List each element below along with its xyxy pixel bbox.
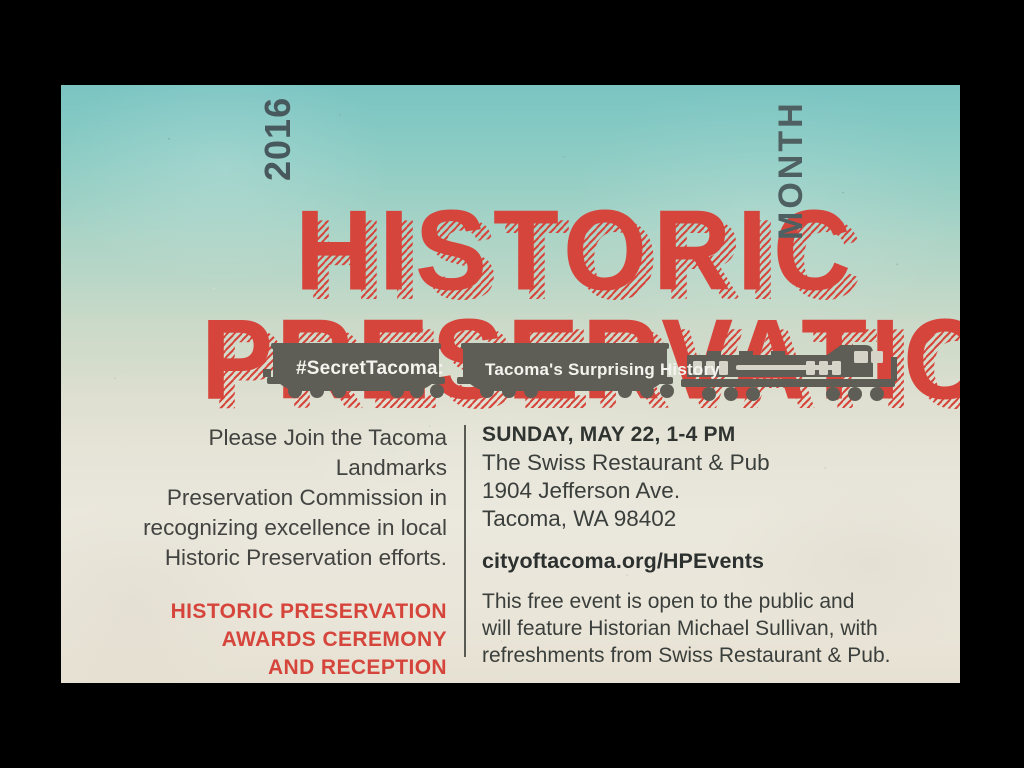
venue-name: The Swiss Restaurant & Pub xyxy=(482,449,912,477)
event-datetime: SUNDAY, MAY 22, 1-4 PM xyxy=(482,423,912,447)
column-divider xyxy=(464,425,466,657)
train-car-label-secret-tacoma: #SecretTacoma: xyxy=(296,358,444,380)
invitation-line-1: Please Join the Tacoma Landmarks xyxy=(117,423,447,483)
event-url-link[interactable]: cityoftacoma.org/HPEvents xyxy=(482,549,912,574)
event-poster: 2016 HISTORIC HISTORIC PRESERVATION PRES… xyxy=(61,85,960,683)
poster-frame: 2016 HISTORIC HISTORIC PRESERVATION PRES… xyxy=(0,0,1024,768)
awards-line-1: HISTORIC PRESERVATION xyxy=(117,598,447,626)
venue-address-block: The Swiss Restaurant & Pub 1904 Jefferso… xyxy=(482,449,912,533)
awards-line-2: AWARDS CEREMONY xyxy=(117,626,447,654)
event-note-line-1: This free event is open to the public an… xyxy=(482,588,912,615)
awards-heading-block: HISTORIC PRESERVATION AWARDS CEREMONY AN… xyxy=(117,598,447,682)
awards-line-3: AND RECEPTION xyxy=(117,654,447,682)
event-note-block: This free event is open to the public an… xyxy=(482,588,912,669)
right-details-column: SUNDAY, MAY 22, 1-4 PM The Swiss Restaur… xyxy=(482,423,912,669)
event-note-line-3: refreshments from Swiss Restaurant & Pub… xyxy=(482,642,912,669)
invitation-line-3: recognizing excellence in local xyxy=(117,513,447,543)
train-illustration: #SecretTacoma: Tacoma's Surprising Histo… xyxy=(201,343,921,405)
venue-street: 1904 Jefferson Ave. xyxy=(482,477,912,505)
invitation-line-2: Preservation Commission in xyxy=(117,483,447,513)
invitation-block: Please Join the Tacoma Landmarks Preserv… xyxy=(117,423,447,573)
invitation-line-4: Historic Preservation efforts. xyxy=(117,543,447,573)
venue-city-state-zip: Tacoma, WA 98402 xyxy=(482,505,912,533)
year-label: 2016 xyxy=(257,97,299,181)
poster-masthead: 2016 HISTORIC HISTORIC PRESERVATION PRES… xyxy=(61,85,960,345)
left-text-column: Please Join the Tacoma Landmarks Preserv… xyxy=(117,423,447,682)
train-car-label-surprising-history: Tacoma's Surprising History xyxy=(485,360,720,380)
event-note-line-2: will feature Historian Michael Sullivan,… xyxy=(482,615,912,642)
month-label: MONTH xyxy=(772,100,811,240)
